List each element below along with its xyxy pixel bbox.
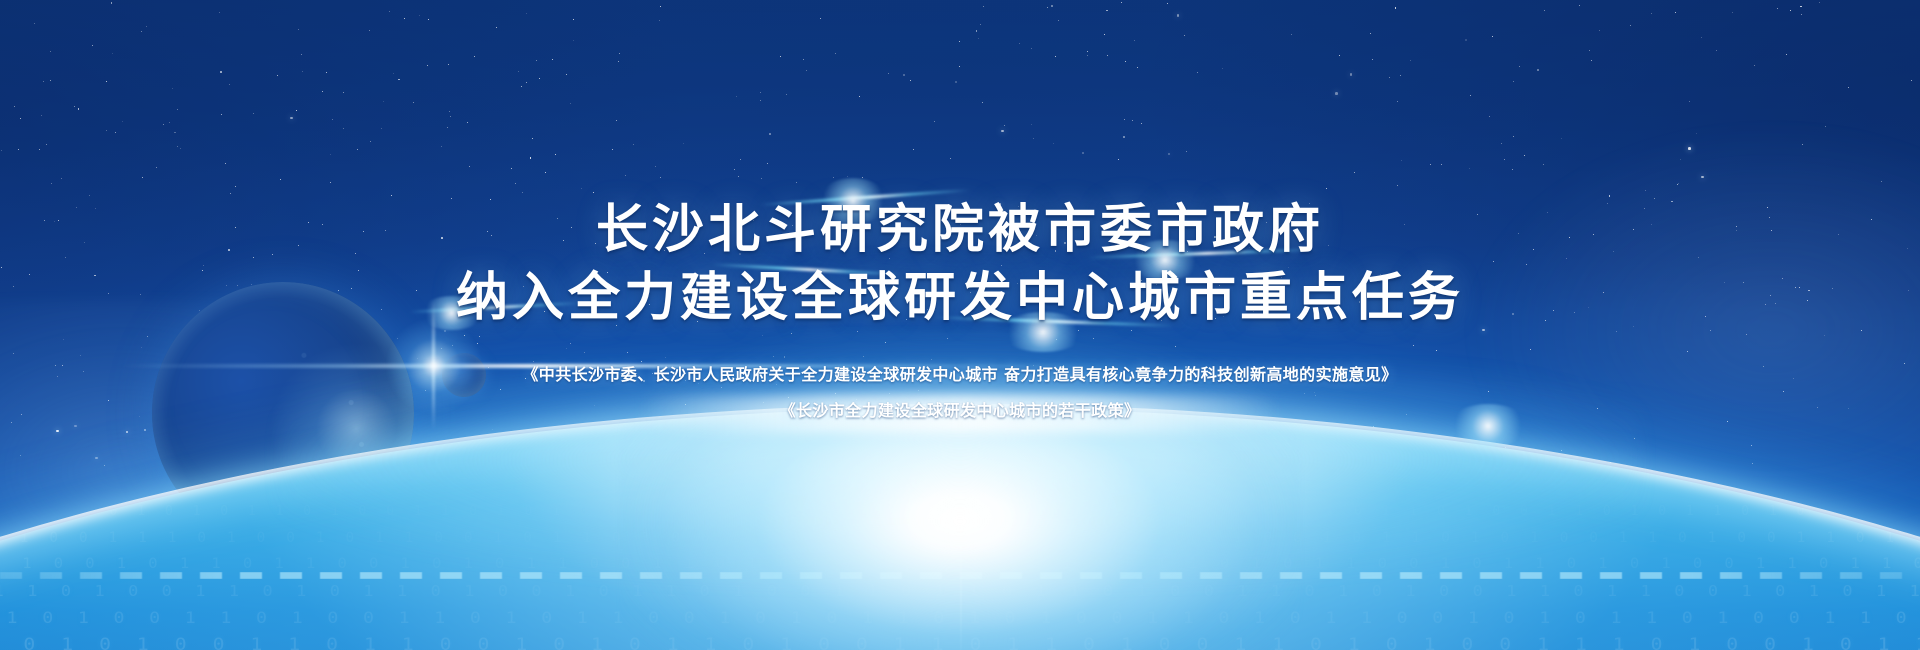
subtitle-line-2: 《长沙市全力建设全球研发中心城市的若干政策》 [522,396,1397,426]
banner-headline: 长沙北斗研究院被市委市政府 纳入全力建设全球研发中心城市重点任务 [456,196,1464,332]
hero-banner: 1 0 1 0 0 1 1 0 1 0 1 1 0 0 1 0 1 0 1 1 … [0,0,1920,650]
headline-line-1: 长沙北斗研究院被市委市政府 [596,200,1324,260]
headline-line-2: 纳入全力建设全球研发中心城市重点任务 [456,264,1464,332]
banner-subtitles: 《中共长沙市委、长沙市人民政府关于全力建设全球研发中心城市 奋力打造具有核心竟争… [522,360,1397,426]
subtitle-line-1: 《中共长沙市委、长沙市人民政府关于全力建设全球研发中心城市 奋力打造具有核心竟争… [522,360,1397,390]
banner-content: 长沙北斗研究院被市委市政府 纳入全力建设全球研发中心城市重点任务 《中共长沙市委… [0,0,1920,650]
